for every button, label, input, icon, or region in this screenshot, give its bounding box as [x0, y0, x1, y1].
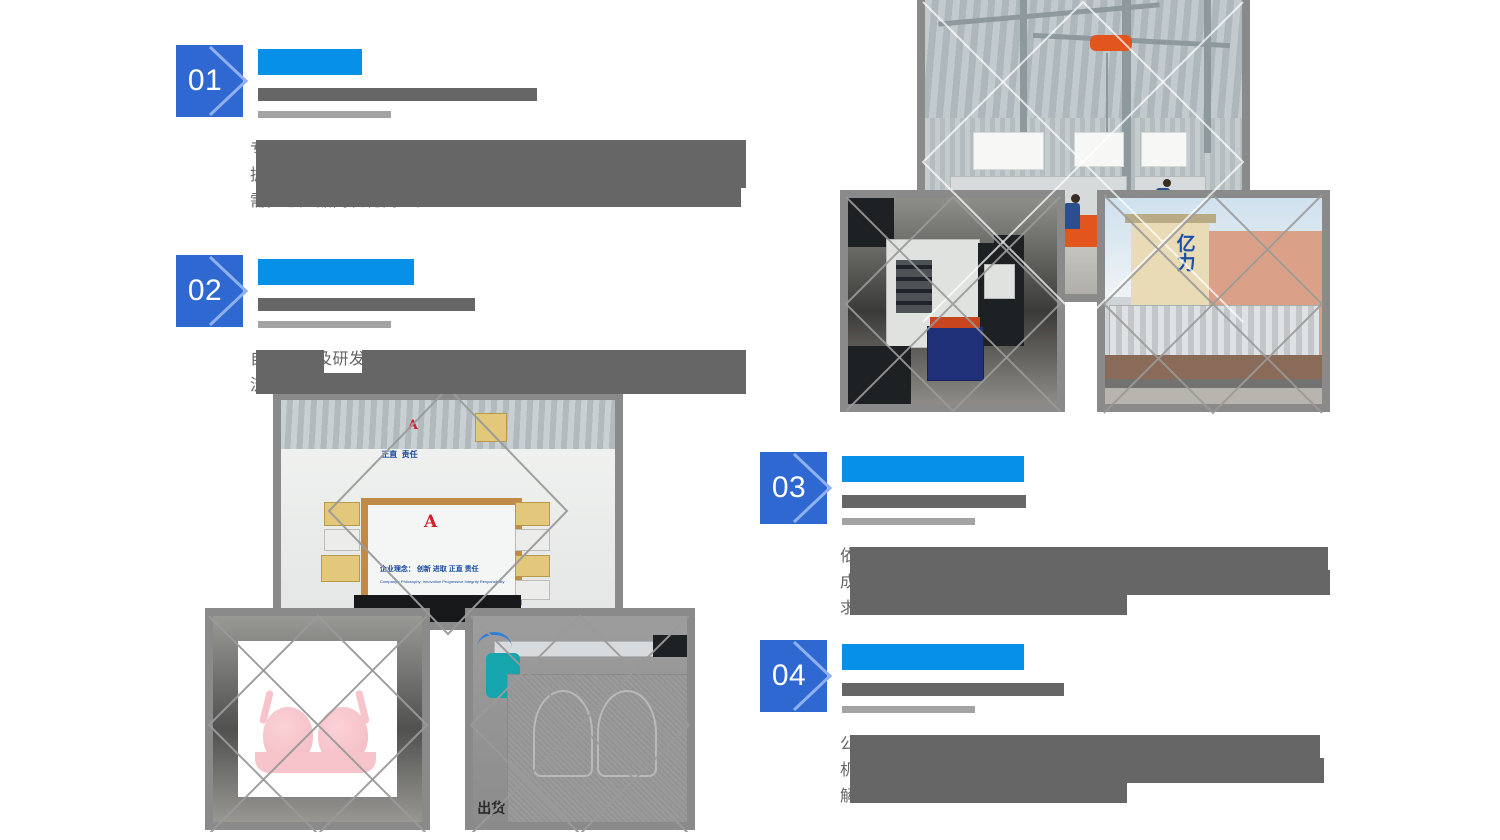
body-redaction [850, 735, 1320, 758]
award-wall-scene: A 企业理念： 创新 进取 正直 责任 Company's Philosophy… [281, 400, 615, 622]
body-redaction [850, 595, 1127, 615]
feature-number: 02 [176, 255, 234, 327]
feature-number: 01 [176, 45, 234, 117]
body-redaction [850, 758, 1324, 783]
feature-header: 01 研发设计 RESEARCH AND DEVELOPMENT DESIGN [176, 45, 750, 117]
feature-badge-02: 02 [176, 255, 243, 327]
award-wall-photo: A 企业理念： 创新 进取 正直 责任 Company's Philosophy… [273, 392, 623, 630]
body-redaction [850, 783, 1127, 803]
feature-header: 02 实力生产基地 STRENGTH PRODUCTION BASE [176, 255, 750, 327]
feature-block-01: 01 研发设计 RESEARCH AND DEVELOPMENT DESIGN … [176, 45, 750, 215]
feature-titles: 完善的售后服务 PERFECT AFTER-SALE SERVICE [842, 640, 1064, 713]
feature-title: 完善的售后服务 [842, 640, 1024, 674]
office-product-collage: A 企业理念： 创新 进取 正直 责任 Company's Philosophy… [205, 392, 695, 832]
feature-titles: 实力生产基地 STRENGTH PRODUCTION BASE [258, 255, 475, 328]
shipping-photo: 亿力 [1097, 190, 1330, 412]
feature-header: 04 完善的售后服务 PERFECT AFTER-SALE SERVICE [760, 640, 1340, 712]
bra-product-scene [213, 616, 422, 822]
feature-titles: 优质的服务模式 SUPERIOR SERVICE MODE [842, 452, 1026, 525]
body-redaction [256, 140, 746, 163]
feature-rule [258, 321, 391, 328]
feature-number: 04 [760, 640, 818, 712]
fabric-cutting-scene: 出货 [473, 616, 687, 822]
feature-badge-03: 03 [760, 452, 827, 524]
feature-body: 依托完善的管理体系与标准化流程，从打样到批量制 成，全程跟单专人对接，快速响应客… [840, 544, 1340, 622]
feature-badge-04: 04 [760, 640, 827, 712]
feature-title: 优质的服务模式 [842, 452, 1024, 486]
feature-subtitle: PERFECT AFTER-SALE SERVICE [842, 680, 1064, 700]
feature-body: 专业的研发设计团队，紧跟国际市场流行趋势，占 据行业技术前沿，为客户量身定制专属… [250, 137, 750, 215]
body-redaction [362, 350, 746, 373]
motto-line: 企业理念： 创新 进取 正直 责任 [380, 564, 479, 574]
feature-block-03: 03 优质的服务模式 SUPERIOR SERVICE MODE 依托完善的管理… [760, 452, 1340, 622]
body-redaction [850, 570, 1330, 595]
feature-number: 03 [760, 452, 818, 524]
body-redaction [850, 547, 1328, 570]
company-logo: A [424, 512, 437, 532]
feature-rule [842, 706, 975, 713]
body-redaction [256, 350, 324, 373]
feature-badge-01: 01 [176, 45, 243, 117]
feature-block-02: 02 实力生产基地 STRENGTH PRODUCTION BASE 自有厂房及… [176, 255, 750, 399]
cnc-machine-photo [840, 190, 1065, 412]
shipping-scene: 亿力 [1105, 198, 1322, 404]
feature-titles: 研发设计 RESEARCH AND DEVELOPMENT DESIGN [258, 45, 537, 118]
feature-rule [258, 111, 391, 118]
body-redaction [256, 373, 746, 394]
feature-rule [842, 518, 975, 525]
factory-collage: 亿力 [835, 0, 1335, 422]
motto-line-en: Company's Philosophy: Innovation Progres… [380, 579, 505, 584]
feature-body: 自有厂房及研发中心，配备进口高精密设备，实现自动化 流水线作业，产能稳定交期有保… [250, 347, 750, 399]
cnc-scene [848, 198, 1057, 404]
building-sign: 亿力 [1177, 235, 1196, 273]
fabric-cutting-photo: 出货 [465, 608, 695, 830]
feature-title: 研发设计 [258, 45, 362, 79]
top-logo: A [408, 418, 418, 433]
feature-header: 03 优质的服务模式 SUPERIOR SERVICE MODE [760, 452, 1340, 524]
feature-body: 公司设立专职售后团队，建立完整的客户档案与回访 机制，产品出现任何问题均可及时处… [840, 732, 1340, 810]
feature-subtitle: SUPERIOR SERVICE MODE [842, 492, 1026, 512]
banner-text: 正直 责任 [381, 449, 417, 460]
body-redaction [256, 188, 741, 207]
feature-subtitle: STRENGTH PRODUCTION BASE [258, 295, 475, 315]
feature-title: 实力生产基地 [258, 255, 414, 289]
page-root: 亿力 [0, 0, 1500, 840]
bra-product-photo [205, 608, 430, 830]
feature-subtitle: RESEARCH AND DEVELOPMENT DESIGN [258, 85, 537, 105]
fabric-photo-caption: 出货 [477, 798, 505, 818]
feature-block-04: 04 完善的售后服务 PERFECT AFTER-SALE SERVICE 公司… [760, 640, 1340, 810]
body-redaction [256, 163, 746, 188]
